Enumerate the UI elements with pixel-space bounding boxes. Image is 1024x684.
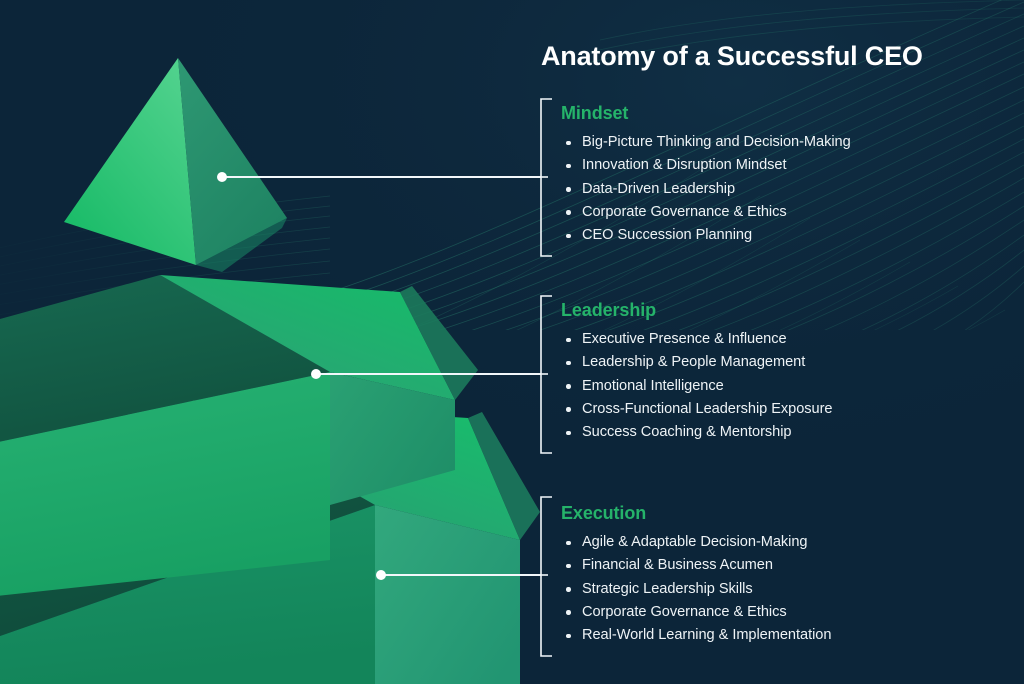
connector-dot-mindset (217, 172, 227, 182)
pyramid-graphic (0, 0, 1024, 684)
section-list-leadership: Executive Presence & Influence Leadershi… (561, 328, 832, 444)
list-item: Corporate Governance & Ethics (561, 601, 831, 624)
section-heading-execution: Execution (561, 503, 831, 524)
section-list-execution: Agile & Adaptable Decision-Making Financ… (561, 531, 831, 647)
list-item: Financial & Business Acumen (561, 554, 831, 577)
connector-lines (0, 0, 1024, 684)
list-item: Corporate Governance & Ethics (561, 201, 851, 224)
list-item: CEO Succession Planning (561, 224, 851, 247)
list-item: Real-World Learning & Implementation (561, 624, 831, 647)
list-item: Executive Presence & Influence (561, 328, 832, 351)
section-list-mindset: Big-Picture Thinking and Decision-Making… (561, 131, 851, 247)
list-item: Emotional Intelligence (561, 375, 832, 398)
section-heading-leadership: Leadership (561, 300, 832, 321)
bracket-execution (541, 497, 552, 656)
section-execution: Execution Agile & Adaptable Decision-Mak… (561, 503, 831, 647)
list-item: Leadership & People Management (561, 351, 832, 374)
list-item: Data-Driven Leadership (561, 178, 851, 201)
infographic-canvas: Anatomy of a Successful CEO Mindset Big-… (0, 0, 1024, 684)
connector-dot-execution (376, 570, 386, 580)
bracket-leadership (541, 296, 552, 453)
list-item: Strategic Leadership Skills (561, 578, 831, 601)
section-heading-mindset: Mindset (561, 103, 851, 124)
page-title: Anatomy of a Successful CEO (541, 41, 923, 72)
list-item: Agile & Adaptable Decision-Making (561, 531, 831, 554)
connector-dot-leadership (311, 369, 321, 379)
background-mesh-pattern (0, 0, 1024, 684)
section-leadership: Leadership Executive Presence & Influenc… (561, 300, 832, 444)
list-item: Innovation & Disruption Mindset (561, 154, 851, 177)
list-item: Cross-Functional Leadership Exposure (561, 398, 832, 421)
section-mindset: Mindset Big-Picture Thinking and Decisio… (561, 103, 851, 247)
list-item: Success Coaching & Mentorship (561, 421, 832, 444)
bracket-mindset (541, 99, 552, 256)
list-item: Big-Picture Thinking and Decision-Making (561, 131, 851, 154)
